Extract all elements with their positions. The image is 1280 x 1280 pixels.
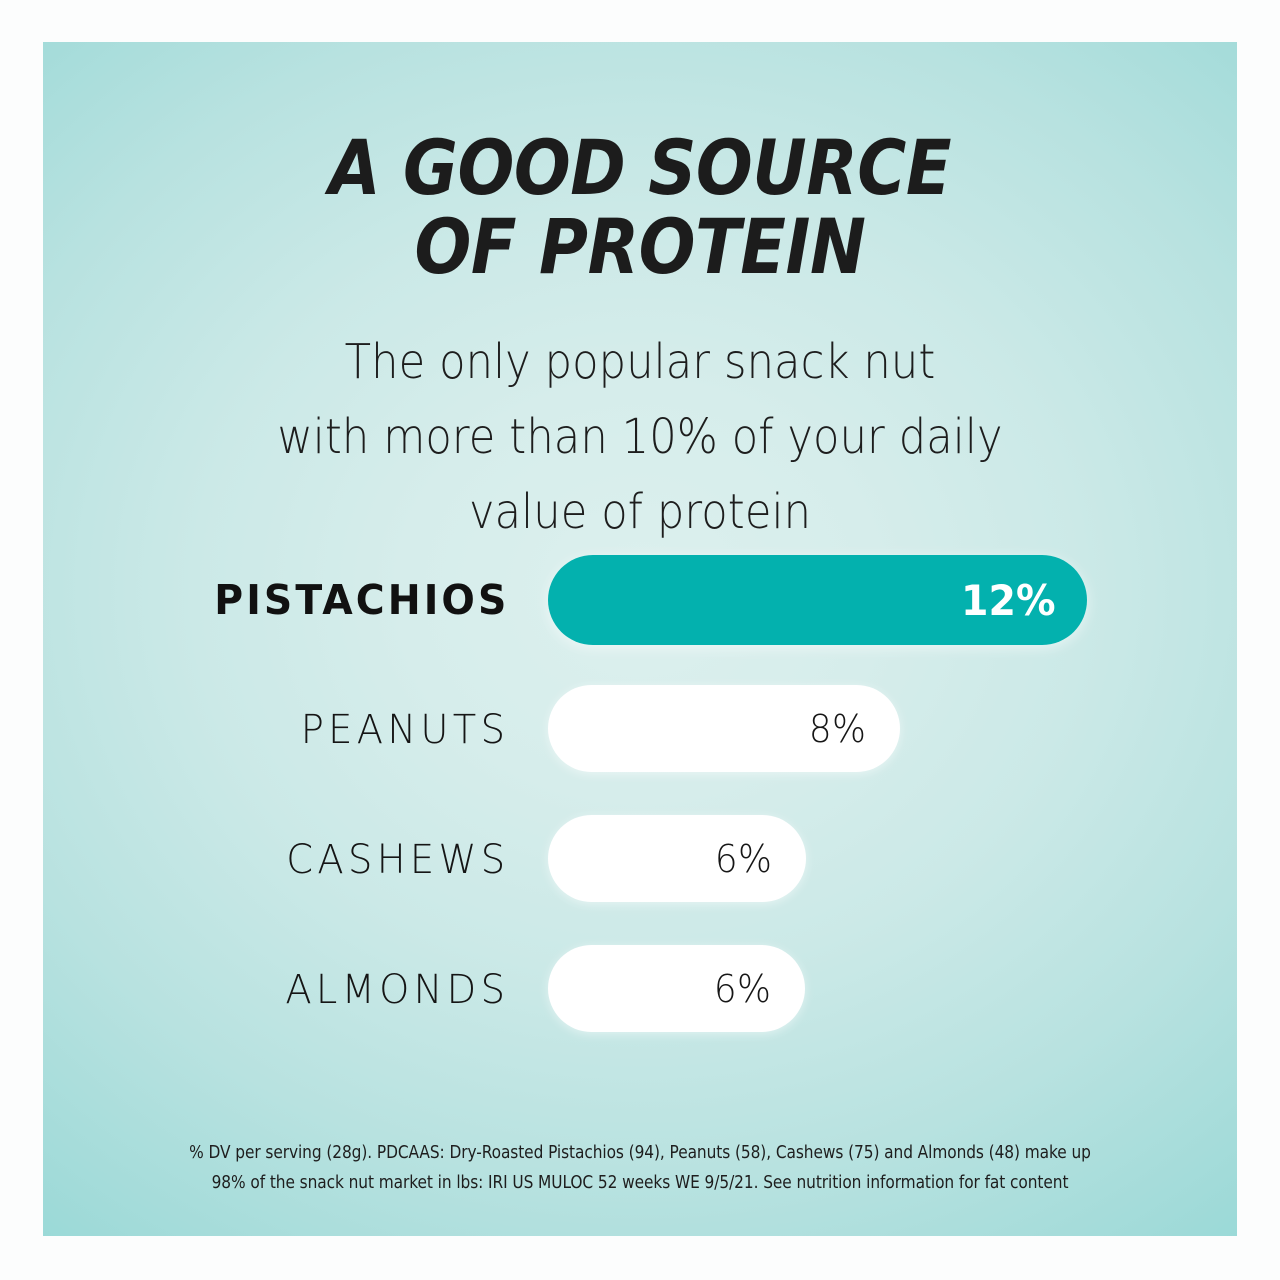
bar-value-peanuts: 8% bbox=[809, 707, 900, 751]
bar-almonds: 6% bbox=[548, 945, 805, 1032]
row-label-pistachios: PISTACHIOS bbox=[214, 555, 509, 645]
row-label-almonds: ALMONDS bbox=[285, 945, 509, 1035]
row-label-peanuts: PEANUTS bbox=[300, 685, 509, 775]
infographic-panel: A GOOD SOURCE OF PROTEIN The only popula… bbox=[43, 42, 1237, 1236]
outer-frame: A GOOD SOURCE OF PROTEIN The only popula… bbox=[0, 0, 1280, 1280]
page-title: A GOOD SOURCE OF PROTEIN bbox=[115, 128, 1166, 286]
bar-peanuts: 8% bbox=[548, 685, 900, 772]
footnote-disclaimer: % DV per serving (28g). PDCAAS: Dry-Roas… bbox=[115, 1138, 1166, 1198]
protein-bar-chart: PISTACHIOS 12% PEANUTS 8% CASHEWS 6% ALM… bbox=[43, 555, 1237, 1075]
bar-value-cashews: 6% bbox=[715, 837, 806, 881]
chart-row-peanuts: PEANUTS 8% bbox=[43, 685, 1237, 815]
bar-value-pistachios: 12% bbox=[961, 576, 1087, 625]
subtitle-text: The only popular snack nut with more tha… bbox=[103, 325, 1178, 550]
bar-value-almonds: 6% bbox=[714, 967, 805, 1011]
chart-row-almonds: ALMONDS 6% bbox=[43, 945, 1237, 1075]
bar-pistachios: 12% bbox=[548, 555, 1087, 645]
chart-row-pistachios: PISTACHIOS 12% bbox=[43, 555, 1237, 685]
row-label-cashews: CASHEWS bbox=[286, 815, 509, 905]
chart-row-cashews: CASHEWS 6% bbox=[43, 815, 1237, 945]
bar-cashews: 6% bbox=[548, 815, 806, 902]
